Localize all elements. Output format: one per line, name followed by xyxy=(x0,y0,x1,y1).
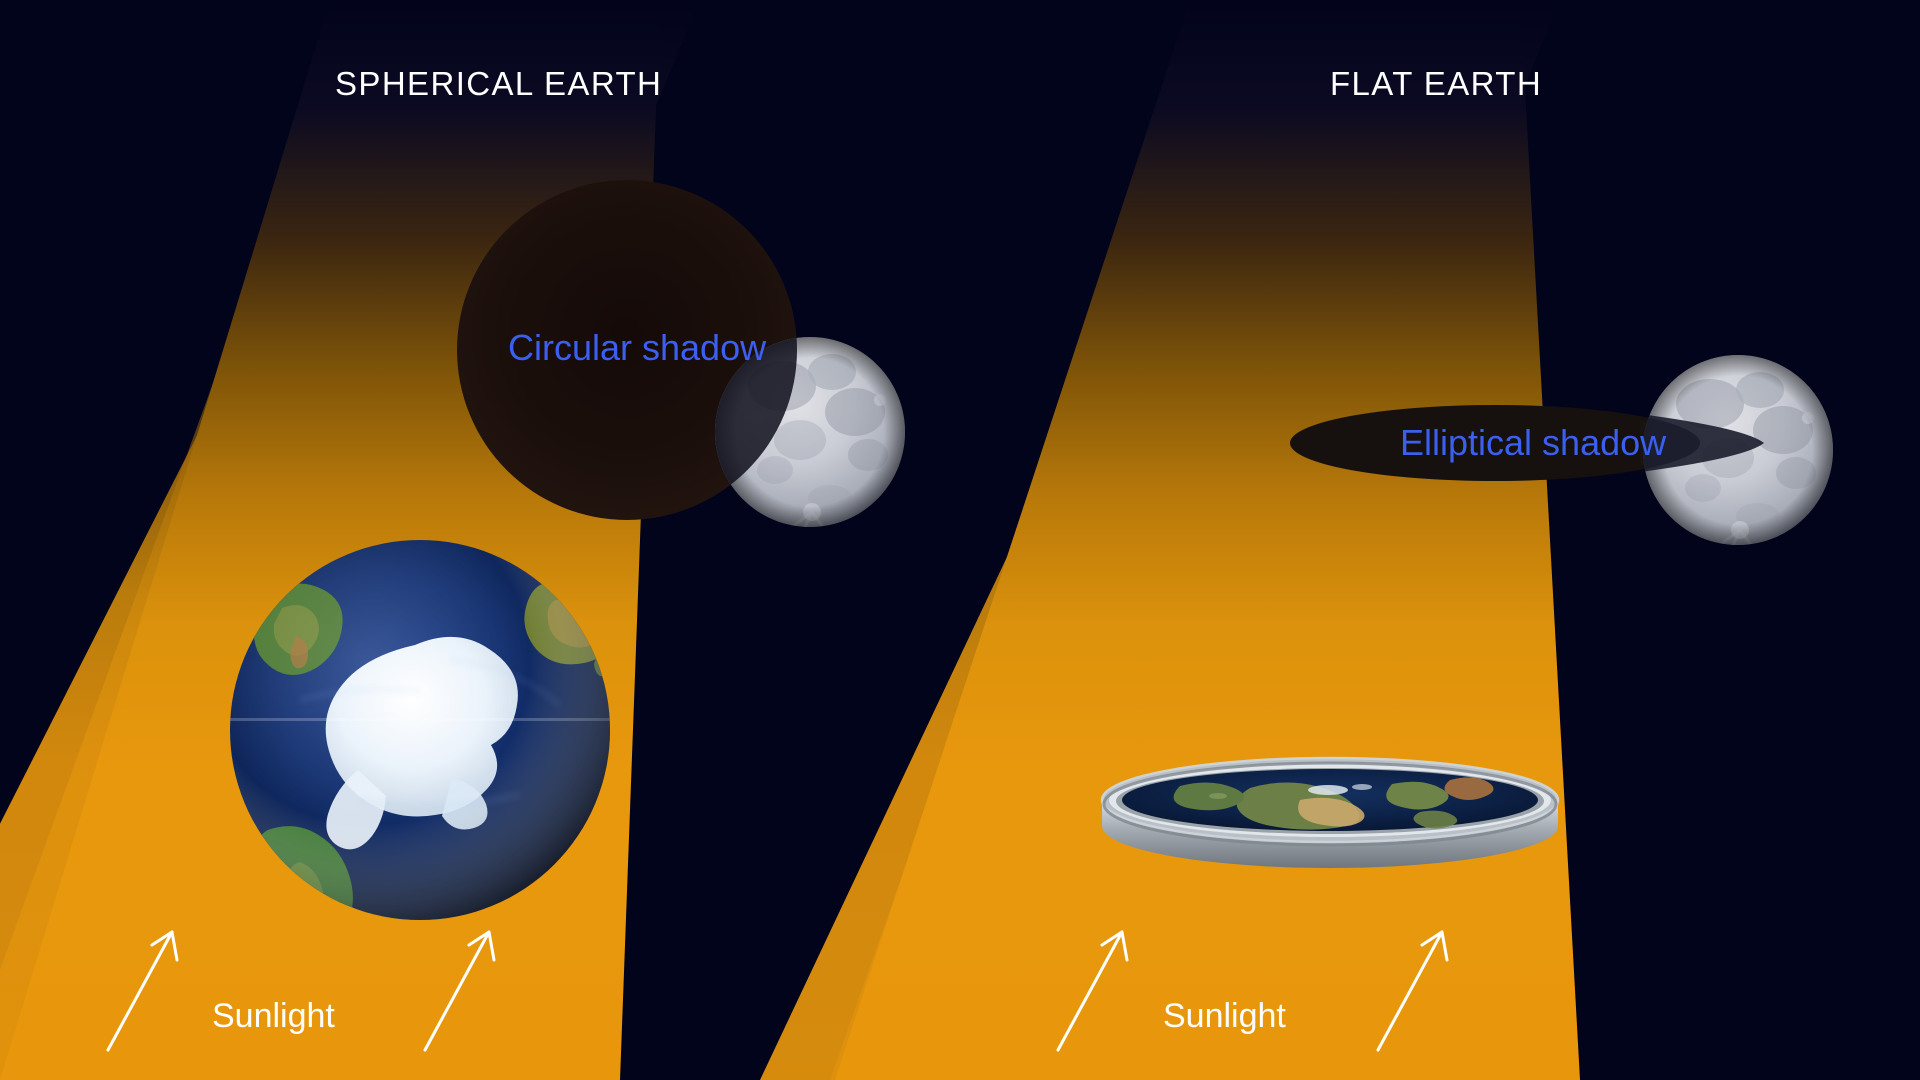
elliptical-shadow-label: Elliptical shadow xyxy=(1400,422,1666,464)
circular-shadow-label: Circular shadow xyxy=(508,327,766,369)
flat-earth-disc xyxy=(1102,758,1558,868)
page-title-flat-earth: FLAT EARTH xyxy=(1330,65,1542,103)
sunlight-label-left: Sunlight xyxy=(212,997,335,1036)
sunlight-label-right: Sunlight xyxy=(1163,997,1286,1036)
eclipse-shadow-diagram: SPHERICAL EARTH FLAT EARTH Circular shad… xyxy=(0,0,1920,1080)
page-title-spherical-earth: SPHERICAL EARTH xyxy=(335,65,662,103)
diagram-canvas xyxy=(0,0,1920,1080)
